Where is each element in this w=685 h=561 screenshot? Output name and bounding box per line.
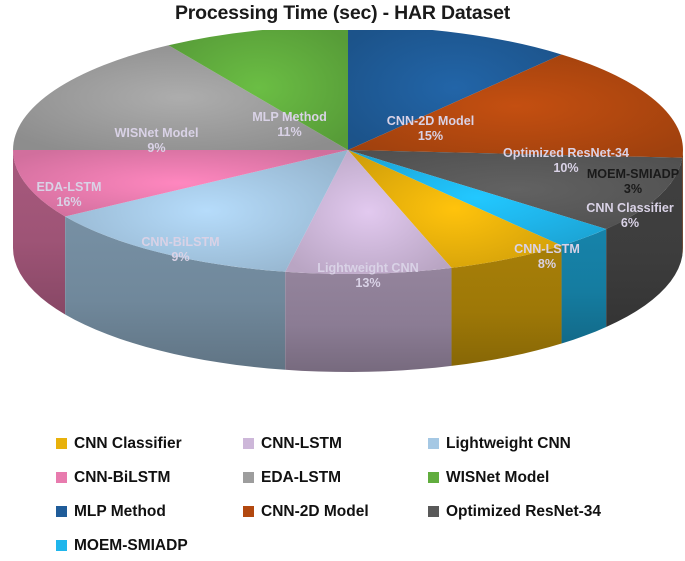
legend-item-moem-smiadp[interactable]: MOEM-SMIADP	[56, 530, 188, 561]
pie-chart-figure: Processing Time (sec) - HAR Dataset MLP …	[0, 0, 685, 549]
pie-svg	[0, 30, 685, 415]
legend-item-cnn-bilstm[interactable]: CNN-BiLSTM	[56, 462, 170, 493]
pie-slice-side-cnn-lstm	[285, 268, 451, 372]
legend-item-cnn-lstm[interactable]: CNN-LSTM	[243, 428, 342, 459]
legend-label: CNN-BiLSTM	[74, 469, 170, 487]
legend-swatch-cnn-lstm	[243, 438, 254, 449]
legend-item-cnn-2d-model[interactable]: CNN-2D Model	[243, 496, 369, 527]
legend-label: CNN-2D Model	[261, 503, 369, 521]
legend-swatch-cnn-2d-model	[243, 506, 254, 517]
legend-swatch-optimized-resnet-34	[428, 506, 439, 517]
legend-item-wisnet-model[interactable]: WISNet Model	[428, 462, 549, 493]
legend-item-cnn-classifier[interactable]: CNN Classifier	[56, 428, 182, 459]
legend-label: MOEM-SMIADP	[74, 537, 188, 555]
legend-item-optimized-resnet-34[interactable]: Optimized ResNet-34	[428, 496, 601, 527]
legend-label: EDA-LSTM	[261, 469, 341, 487]
legend-swatch-lightweight-cnn	[428, 438, 439, 449]
legend-swatch-mlp-method	[56, 506, 67, 517]
pie-slice-side-moem-smiadp	[562, 229, 607, 344]
legend-label: Optimized ResNet-34	[446, 503, 601, 521]
legend-label: MLP Method	[74, 503, 166, 521]
pie-slice-side-cnn-2d-model	[682, 150, 683, 256]
legend-label: WISNet Model	[446, 469, 549, 487]
legend-swatch-moem-smiadp	[56, 540, 67, 551]
legend-label: CNN Classifier	[74, 435, 182, 453]
legend-swatch-eda-lstm	[243, 472, 254, 483]
legend-item-eda-lstm[interactable]: EDA-LSTM	[243, 462, 341, 493]
pie-top-faces	[13, 30, 683, 274]
legend-item-lightweight-cnn[interactable]: Lightweight CNN	[428, 428, 571, 459]
legend-label: Lightweight CNN	[446, 435, 571, 453]
legend-swatch-wisnet-model	[428, 472, 439, 483]
legend-label: CNN-LSTM	[261, 435, 342, 453]
page-title: Processing Time (sec) - HAR Dataset	[0, 2, 685, 25]
chart-legend: CNN ClassifierCNN-LSTMLightweight CNNCNN…	[0, 420, 685, 549]
pie-plot-area: MLP Method11%CNN-2D Model15%Optimized Re…	[0, 30, 685, 415]
legend-swatch-cnn-classifier	[56, 438, 67, 449]
legend-swatch-cnn-bilstm	[56, 472, 67, 483]
legend-item-mlp-method[interactable]: MLP Method	[56, 496, 166, 527]
